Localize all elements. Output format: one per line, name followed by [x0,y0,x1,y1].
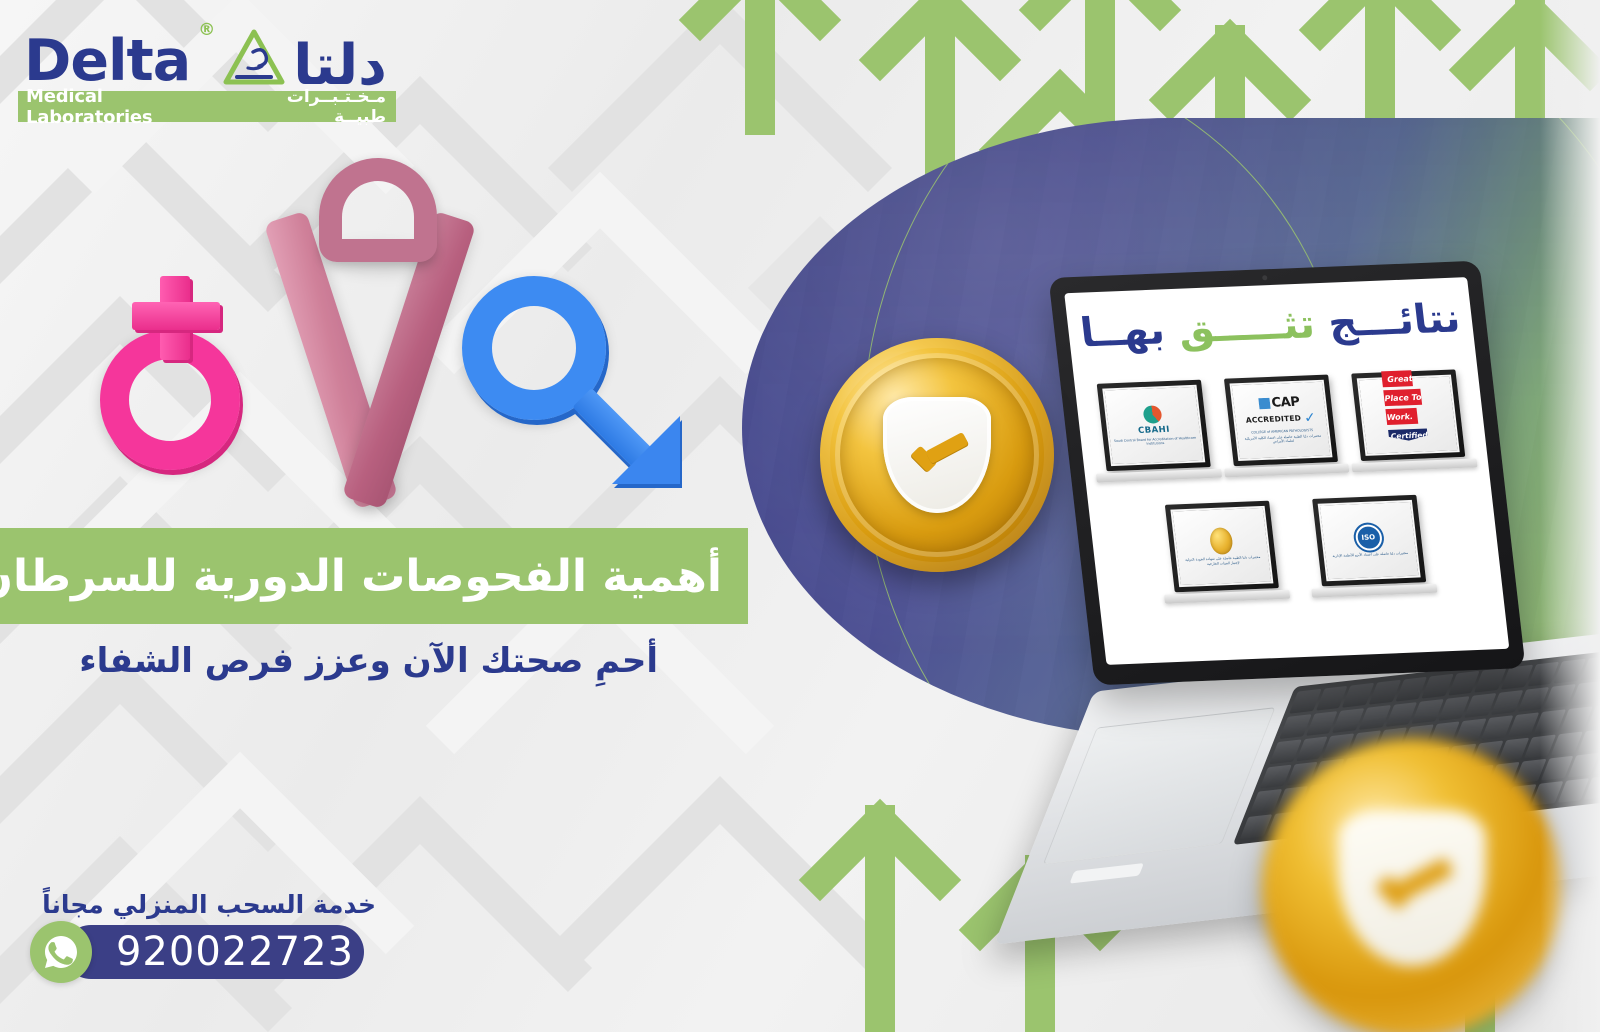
quality-seal-badge-blurred [1262,738,1562,1032]
cap-logo-icon [1258,398,1270,409]
gold-medal-icon [1208,527,1233,555]
screen-headline-part1: نتائـــج [1326,295,1463,346]
laptop-lid: نتائـــج تثـــــق بهــا CBAHI Saudi Cent… [1048,261,1525,686]
webcam-icon [1262,275,1268,280]
certificate-iso: ISO مختبرات دلتا حاصلة على اعتماد الأيزو… [1312,495,1427,598]
logo-tagline-ar: مـخـتـبــرات طبيــة [232,87,386,127]
headline-banner: أهمية الفحوصات الدورية للسرطان [0,528,748,624]
logo-name-ar: دلتا [293,39,387,92]
laptop-screen: نتائـــج تثـــــق بهــا CBAHI Saudi Cent… [1064,277,1509,665]
certificate-great-place-to-work: Great Place To Work. Certified JAN 2023 … [1351,369,1466,472]
gptw-label-bottom: Certified JAN 2023 - JAN 2024 [1388,428,1434,464]
certificate-cap: CAP ACCREDITED ✓ COLLEGE of AMERICAN PAT… [1224,375,1339,478]
home-service-note: خدمة السحب المنزلي مجاناً [24,890,384,919]
cap-label: CAP [1271,397,1300,410]
certificate-gold-medal: مختبرات دلتا الطبية حاصلة على شهادة الجو… [1164,501,1279,604]
contact-block: خدمة السحب المنزلي مجاناً 920022723 [24,890,384,983]
registered-mark-icon: ® [198,20,215,40]
female-gender-symbol [100,278,282,478]
gptw-label-top: Great Place To Work. [1381,370,1422,425]
whatsapp-icon[interactable] [30,921,92,983]
advertisement-poster: Delta ® دلتا Medical Laboratories مـخـتـ… [0,0,1600,1032]
certificates-row-1: CBAHI Saudi Central Board for Accreditat… [1085,369,1479,483]
right-edge-fade [1540,0,1600,1032]
screen-headline: نتائـــج تثـــــق بهــا [1066,295,1474,357]
awareness-symbols-group [90,150,670,530]
cap-caption-ar: مختبرات دلتا الطبية حاصلة على اعتماد الك… [1242,433,1325,445]
page-title: أهمية الفحوصات الدورية للسرطان [0,551,722,602]
certificate-cbahi: CBAHI Saudi Central Board for Accreditat… [1096,380,1211,483]
logo-wordmark-row: Delta ® دلتا [18,14,396,88]
subheadline: أحمِ صحتك الآن وعزز فرص الشفاء [0,630,680,692]
cap-sublabel: ACCREDITED [1245,414,1301,425]
logo-tagline-en: Medical Laboratories [26,86,232,128]
cbahi-label: CBAHI [1138,425,1171,436]
cbahi-caption: Saudi Central Board for Accreditation of… [1114,436,1197,447]
iso-seal-icon: ISO [1354,524,1383,551]
checkmark-icon: ✓ [1303,410,1317,426]
gold-medal-caption: مختبرات دلتا الطبية حاصلة على شهادة الجو… [1181,555,1264,567]
phone-pill[interactable]: 920022723 [64,925,364,979]
cbahi-logo-icon [1142,405,1162,424]
brand-logo: Delta ® دلتا Medical Laboratories مـخـتـ… [18,14,396,122]
great-place-to-work-icon: Great Place To Work. Certified JAN 2023 … [1381,365,1436,465]
quality-seal-badge [820,338,1054,572]
subheadline-text: أحمِ صحتك الآن وعزز فرص الشفاء [79,641,658,681]
iso-caption: مختبرات دلتا حاصلة على اعتماد الأيزو للأ… [1332,551,1408,558]
male-gender-symbol [462,266,662,486]
screen-headline-emphasis: تثـــــق [1176,301,1317,352]
microscope-triangle-icon [223,28,285,86]
logo-tagline-bar: Medical Laboratories مـخـتـبــرات طبيــة [18,91,396,122]
gptw-period: JAN 2023 - JAN 2024 [1390,441,1435,447]
phone-number[interactable]: 920022723 [116,929,354,975]
logo-name-en: Delta [24,34,190,88]
shield-check-icon [1338,810,1486,966]
phone-row[interactable]: 920022723 [24,921,384,983]
certificates-row-2: مختبرات دلتا الطبية حاصلة على شهادة الجو… [1099,492,1493,606]
screen-headline-part2: بهــا [1078,307,1167,356]
